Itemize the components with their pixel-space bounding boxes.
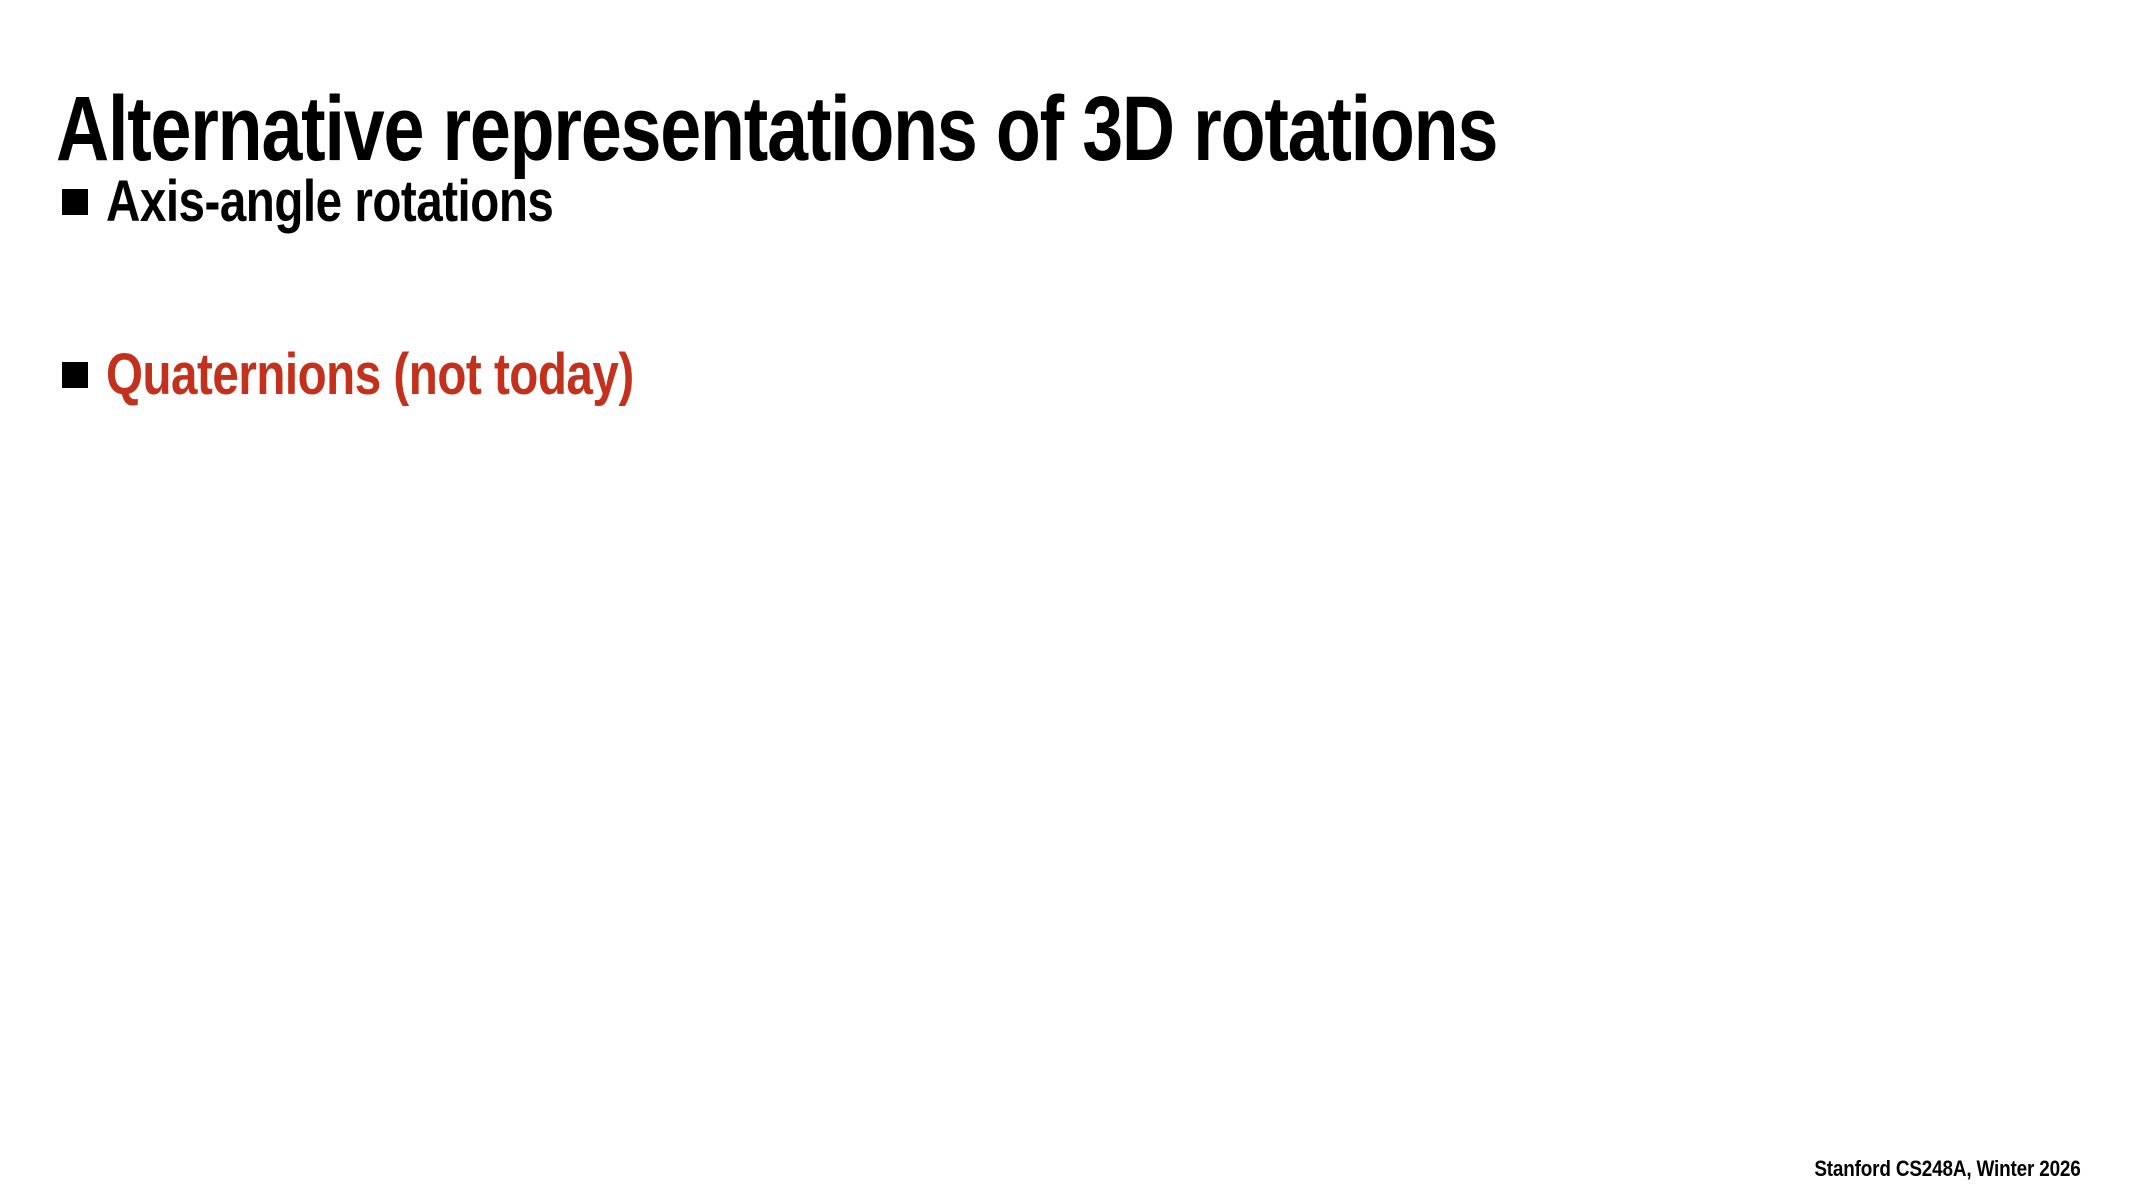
- slide-footer: Stanford CS248A, Winter 2026: [1815, 1156, 2081, 1182]
- page-title: Alternative representations of 3D rotati…: [56, 80, 1497, 179]
- square-bullet-icon: [62, 189, 88, 215]
- bullet-item-label: Quaternions (not today): [106, 343, 634, 408]
- slide-canvas: Alternative representations of 3D rotati…: [0, 0, 2133, 1200]
- list-item[interactable]: Quaternions (not today): [62, 343, 750, 408]
- list-item[interactable]: Axis-angle rotations: [62, 170, 652, 235]
- square-bullet-icon: [62, 362, 88, 388]
- bullet-item-label: Axis-angle rotations: [106, 170, 553, 235]
